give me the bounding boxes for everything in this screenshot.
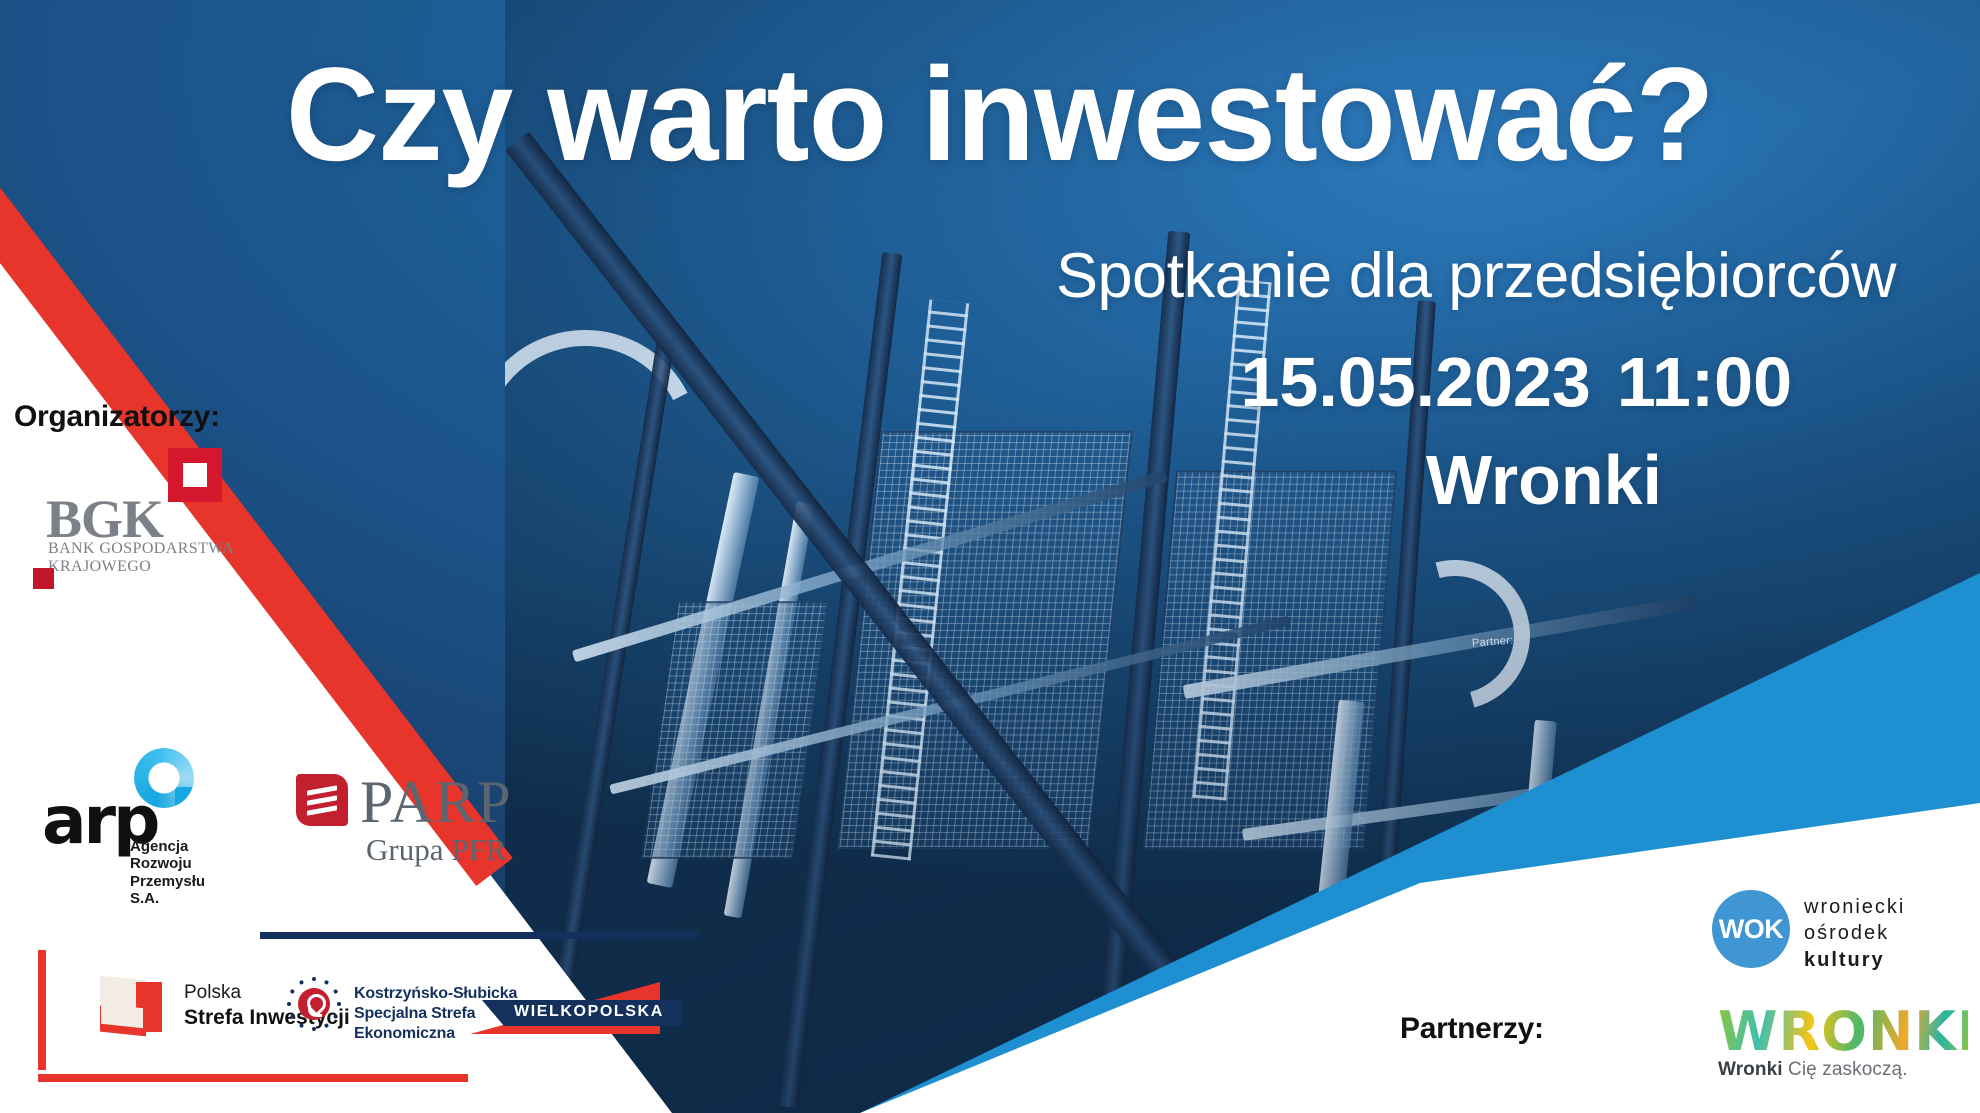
logo-bgk: BGK BANK GOSPODARSTWA KRAJOWEGO [40, 448, 250, 568]
arp-subtitle-line3: Przemysłu [130, 873, 205, 890]
wielkopolska-wordmark: WIELKOPOLSKA [514, 1003, 664, 1021]
wronki-wordmark: WRONKI [1718, 1000, 1968, 1063]
bar-red-left-rule [38, 950, 46, 1070]
bgk-dot-icon [33, 568, 54, 589]
ksse-emblem-icon [286, 976, 342, 1032]
subtitle: Spotkanie dla przedsiębiorców [0, 242, 1980, 311]
event-city: Wronki [0, 440, 1980, 520]
logo-wielkopolska: WIELKOPOLSKA [470, 972, 680, 1044]
wok-line2: ośrodek [1804, 920, 1905, 946]
event-datetime: 15.05.202311:00 [0, 342, 1980, 422]
bgk-subtitle-line1: BANK GOSPODARSTWA [48, 540, 234, 558]
bar-navy-top-rule [260, 932, 698, 939]
ksse-core-icon [298, 988, 330, 1020]
event-date: 15.05.2023 [1240, 343, 1590, 421]
logo-wronki: WRONKI Wronki Cię zaskoczą. [1718, 1000, 1968, 1090]
bar-red-bottom-rule [38, 1074, 468, 1082]
bgk-subtitle: BANK GOSPODARSTWA KRAJOWEGO [48, 540, 234, 576]
arp-subtitle-line4: S.A. [130, 890, 205, 907]
wok-circle-icon: WOK [1712, 890, 1790, 968]
page-title: Czy warto inwestować? [30, 48, 1951, 184]
parp-wordmark: PARP [360, 768, 513, 837]
parp-subtitle: Grupa PFR [366, 832, 506, 868]
psi-line1: Polska [184, 982, 241, 1004]
parp-mark-icon [296, 774, 348, 826]
bgk-subtitle-line2: KRAJOWEGO [48, 558, 234, 576]
arp-subtitle: Agencja Rozwoju Przemysłu S.A. [130, 838, 205, 908]
wronki-tagline-bold: Wronki [1718, 1059, 1783, 1080]
wok-line3: kultury [1804, 949, 1885, 971]
arp-subtitle-line2: Rozwoju [130, 855, 205, 872]
organizers-logo-bar: Polska Strefa Inwestycji [38, 932, 698, 1082]
bgk-square-icon [168, 448, 222, 502]
polish-flag-icon [100, 978, 170, 1038]
logo-wok: WOK wroniecki ośrodek kultury [1712, 890, 1962, 980]
event-time: 11:00 [1617, 343, 1792, 421]
wok-text: wroniecki ośrodek kultury [1804, 894, 1905, 973]
arp-subtitle-line1: Agencja [130, 838, 205, 855]
partners-label: Partnerzy: [1400, 1012, 1544, 1046]
organizers-label: Organizatorzy: [14, 400, 220, 434]
logo-arp: arp Agencja Rozwoju Przemysłu S.A. [42, 750, 232, 870]
wronki-tagline-rest: Cię zaskoczą. [1783, 1059, 1908, 1080]
logo-parp: PARP Grupa PFR [296, 772, 526, 882]
wok-line1: wroniecki [1804, 894, 1905, 920]
wok-mark-text: WOK [1712, 890, 1790, 968]
poster-canvas: Partner: Czy warto inwestować? Spotkanie… [0, 0, 1980, 1113]
